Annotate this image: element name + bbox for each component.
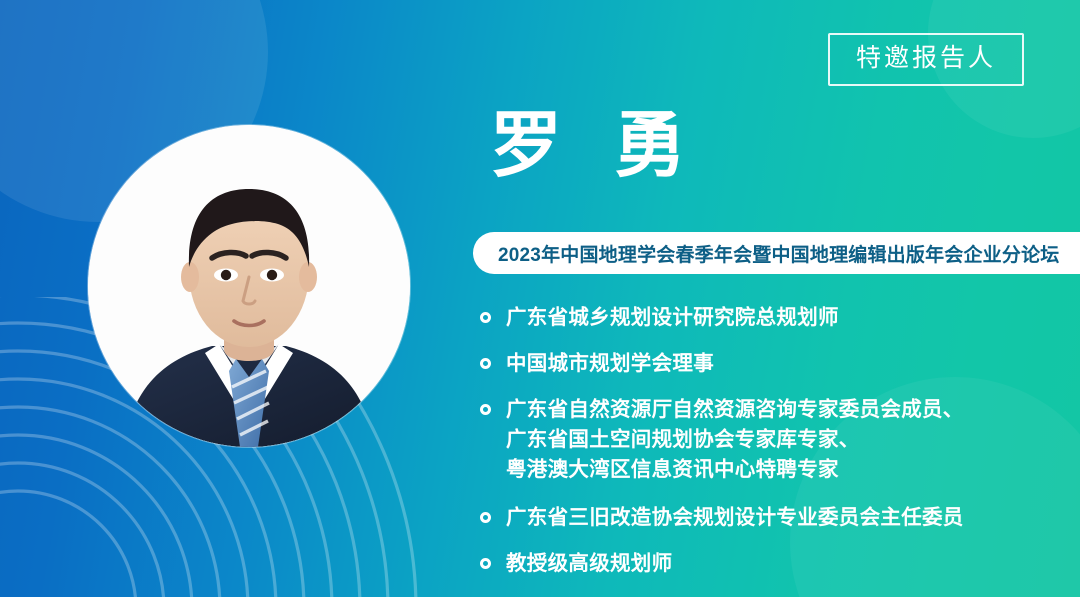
credential-line: 广东省自然资源厅自然资源咨询专家委员会成员、 [506,398,964,421]
badge-label: 特邀报告人 [856,44,996,72]
list-item: 教授级高级规划师 [480,549,1060,579]
list-item: 广东省自然资源厅自然资源咨询专家委员会成员、 广东省国土空间规划协会专家库专家、… [480,395,1060,485]
list-item: 广东省三旧改造协会规划设计专业委员会主任委员 [480,503,1060,533]
credential-line: 教授级高级规划师 [506,552,672,575]
credential-line: 中国城市规划学会理事 [506,352,714,375]
credentials-list: 广东省城乡规划设计研究院总规划师 中国城市规划学会理事 广东省自然资源厅自然资源… [480,303,1060,595]
ring-bullet-icon [480,404,491,415]
list-item: 广东省城乡规划设计研究院总规划师 [480,303,1060,333]
ring-bullet-icon [480,512,491,523]
invited-speaker-badge: 特邀报告人 [828,33,1024,86]
ring-bullet-icon [480,312,491,323]
credential-line: 广东省国土空间规划协会专家库专家、 [506,428,860,451]
credential-line: 粤港澳大湾区信息资讯中心特聘专家 [506,458,839,481]
conference-title-pill: 2023年中国地理学会春季年会暨中国地理编辑出版年会企业分论坛 [473,232,1080,274]
speaker-portrait [88,125,410,447]
list-item: 中国城市规划学会理事 [480,349,1060,379]
portrait-photo-image [88,125,410,447]
speaker-name: 罗 勇 [490,110,702,182]
ring-bullet-icon [480,358,491,369]
conference-title-text: 2023年中国地理学会春季年会暨中国地理编辑出版年会企业分论坛 [473,240,1059,267]
speaker-poster: 特邀报告人 罗 勇 2023年中国地理学会春季年会暨中国地理编辑出版年会企业分论… [0,0,1080,597]
ring-bullet-icon [480,558,491,569]
credential-line: 广东省城乡规划设计研究院总规划师 [506,306,839,329]
credential-line: 广东省三旧改造协会规划设计专业委员会主任委员 [506,506,964,529]
